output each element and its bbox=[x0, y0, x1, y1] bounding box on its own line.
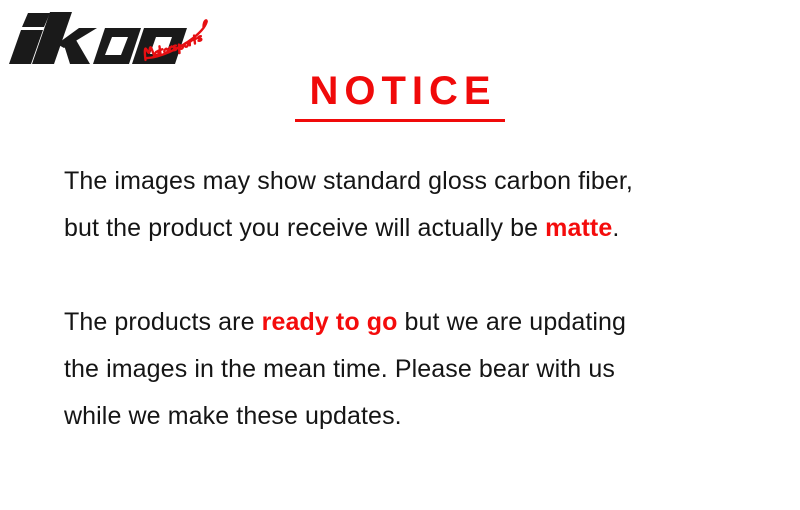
notice-paragraph-1: The images may show standard gloss carbo… bbox=[64, 158, 764, 252]
paragraph-spacer bbox=[64, 252, 764, 299]
paragraph-2-line-1-before: The products are bbox=[64, 308, 262, 336]
paragraph-2-line-1-after: but we are updating bbox=[397, 308, 626, 336]
notice-title-underline bbox=[295, 119, 505, 122]
notice-body: The images may show standard gloss carbo… bbox=[64, 158, 764, 440]
brand-logo: ikon Motorsports bbox=[4, 4, 244, 66]
ikon-motorsports-logo-graphic bbox=[4, 4, 244, 66]
paragraph-1-line-2-after: . bbox=[612, 214, 619, 242]
notice-paragraph-2: The products are ready to go but we are … bbox=[64, 299, 764, 440]
paragraph-2-line-3: while we make these updates. bbox=[64, 402, 402, 430]
notice-title: NOTICE bbox=[303, 68, 496, 114]
emphasis-matte: matte bbox=[545, 214, 612, 242]
paragraph-1-line-2-before: but the product you receive will actuall… bbox=[64, 214, 545, 242]
notice-header: NOTICE bbox=[0, 68, 800, 122]
paragraph-2-line-2: the images in the mean time. Please bear… bbox=[64, 355, 615, 383]
paragraph-1-line-1: The images may show standard gloss carbo… bbox=[64, 167, 633, 195]
emphasis-ready-to-go: ready to go bbox=[262, 308, 398, 336]
